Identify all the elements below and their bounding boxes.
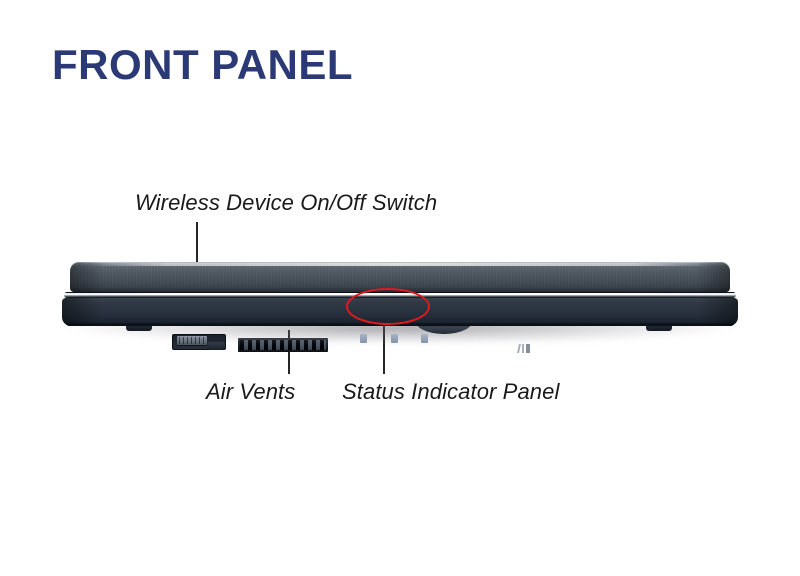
status-indicator-icon-2 [391, 334, 398, 343]
lid-highlight [92, 263, 708, 266]
page-canvas: FRONT PANEL Wireless Device On/Off Switc… [0, 0, 800, 576]
switch-grip-ribs [179, 337, 205, 344]
laptop-lid [70, 262, 730, 292]
base-bottom-edge [66, 323, 734, 326]
status-indicator-panel [358, 334, 432, 346]
laptop-front-view-image [60, 262, 740, 334]
lid-left-shading [70, 262, 104, 292]
callout-label-wireless-switch: Wireless Device On/Off Switch [135, 190, 437, 216]
laptop-base [62, 298, 738, 326]
latch-mark-3 [526, 344, 530, 353]
switch-bezel-tab [208, 342, 224, 350]
lid-right-shading [696, 262, 730, 292]
vent-shading [238, 338, 328, 352]
status-indicator-icon-1 [360, 334, 367, 343]
latch-icon [517, 344, 531, 353]
latch-mark-2 [522, 344, 524, 353]
page-title: FRONT PANEL [52, 44, 353, 86]
status-indicator-icon-3 [421, 334, 428, 343]
lid-texture [70, 266, 730, 288]
air-vents [238, 338, 328, 352]
latch-mark-1 [517, 344, 521, 353]
callout-label-air-vents: Air Vents [206, 379, 295, 405]
base-left-shading [62, 298, 102, 326]
seam-gloss-highlight [90, 293, 710, 295]
callout-label-status-indicator-panel: Status Indicator Panel [342, 379, 559, 405]
base-right-shading [698, 298, 738, 326]
wireless-device-on-off-switch[interactable] [172, 334, 224, 350]
